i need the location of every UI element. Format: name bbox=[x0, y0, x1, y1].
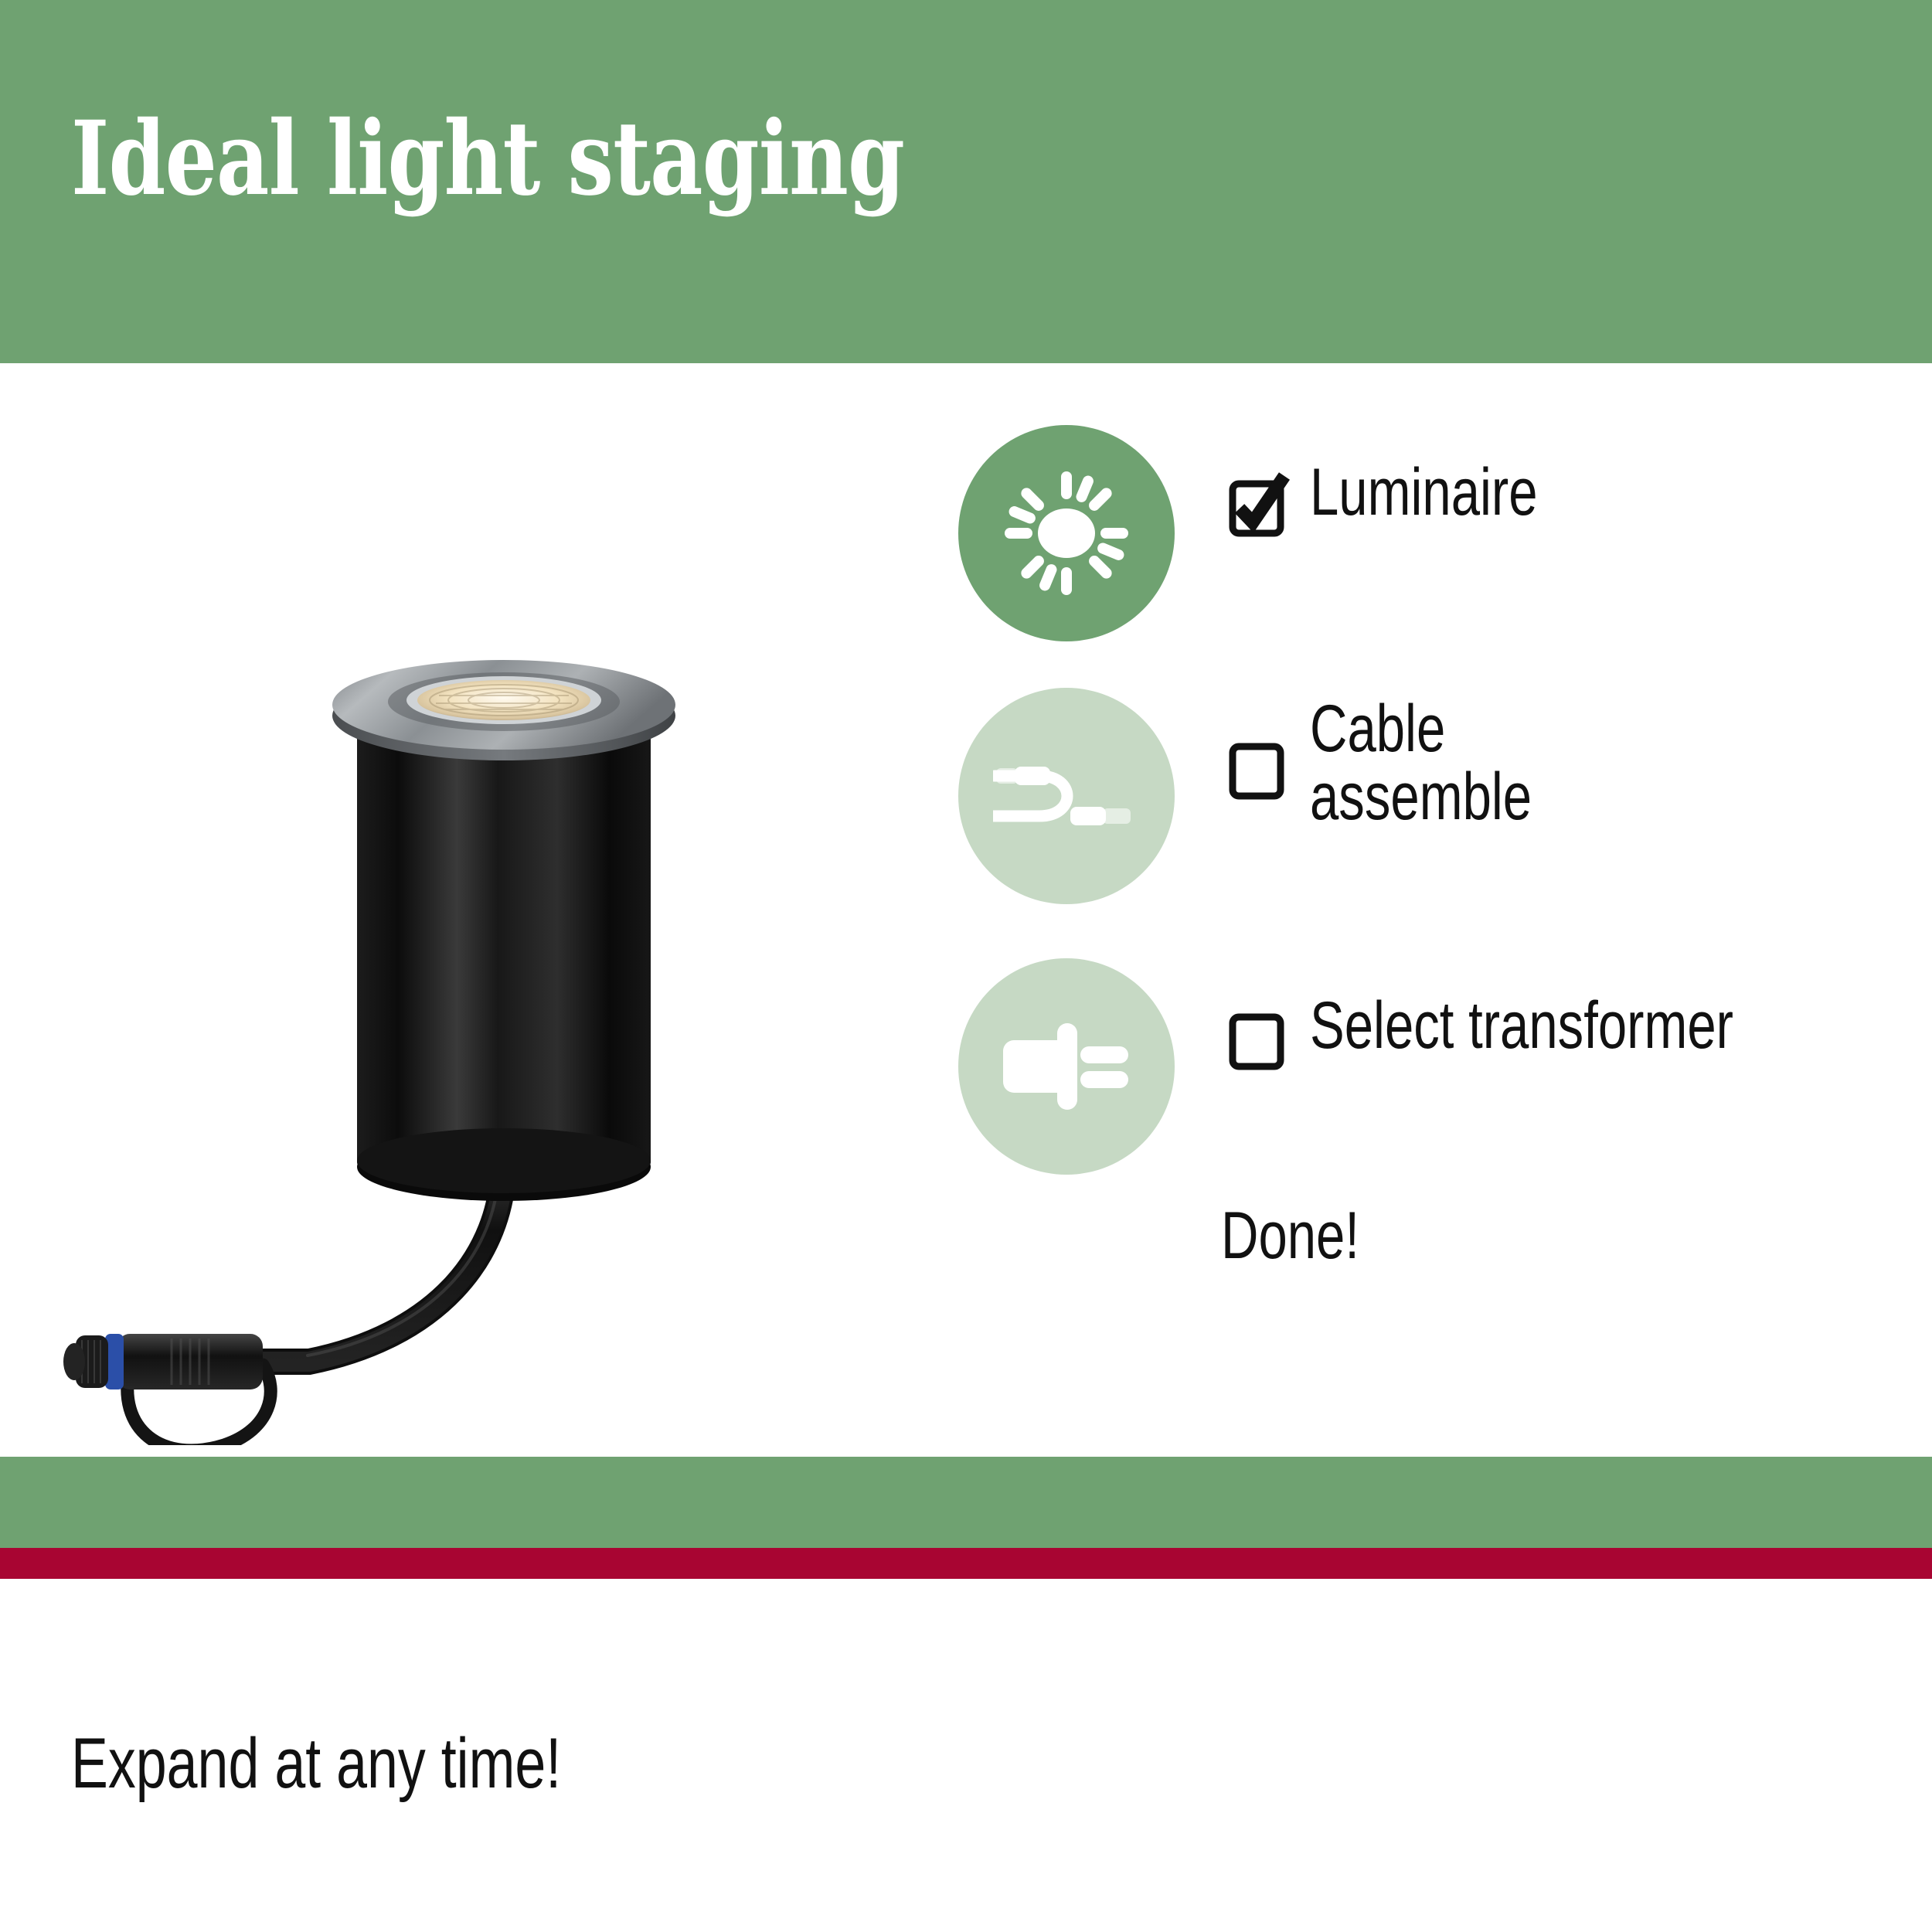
plug-icon bbox=[997, 1012, 1136, 1121]
footer-green-bar bbox=[0, 1457, 1932, 1548]
checkbox-square bbox=[1233, 747, 1281, 796]
sun-icon bbox=[997, 464, 1136, 603]
cable-icon-badge bbox=[958, 688, 1175, 904]
plug-icon-badge bbox=[958, 958, 1175, 1175]
checklist-item-transformer[interactable]: Select transformer bbox=[958, 958, 1932, 1213]
checklist: Luminaire Cable assemble bbox=[958, 425, 1932, 1213]
product-image bbox=[31, 564, 943, 1445]
checkbox-cable[interactable] bbox=[1229, 740, 1286, 801]
checklist-item-luminaire[interactable]: Luminaire bbox=[958, 425, 1932, 688]
done-text: Done! bbox=[1221, 1198, 1359, 1274]
checklist-label-luminaire: Luminaire bbox=[1310, 459, 1538, 527]
footer-note: Expand at any time! bbox=[71, 1723, 561, 1804]
cable-icon bbox=[993, 742, 1140, 850]
checklist-item-cable[interactable]: Cable assemble bbox=[958, 688, 1932, 958]
led-lens bbox=[417, 680, 590, 720]
main-content: Luminaire Cable assemble bbox=[0, 363, 1932, 1457]
checklist-label-transformer: Select transformer bbox=[1310, 992, 1733, 1060]
luminaire-body bbox=[357, 703, 651, 1167]
checkbox-square bbox=[1233, 1017, 1281, 1066]
page-title: Ideal light staging bbox=[71, 108, 904, 210]
checklist-label-cable: Cable assemble bbox=[1310, 696, 1532, 831]
header-band: Ideal light staging bbox=[0, 0, 1932, 363]
luminaire-icon-badge bbox=[958, 425, 1175, 641]
checkbox-transformer[interactable] bbox=[1229, 1011, 1286, 1071]
checkbox-luminaire[interactable] bbox=[1229, 478, 1286, 538]
footer-red-bar bbox=[0, 1548, 1932, 1579]
